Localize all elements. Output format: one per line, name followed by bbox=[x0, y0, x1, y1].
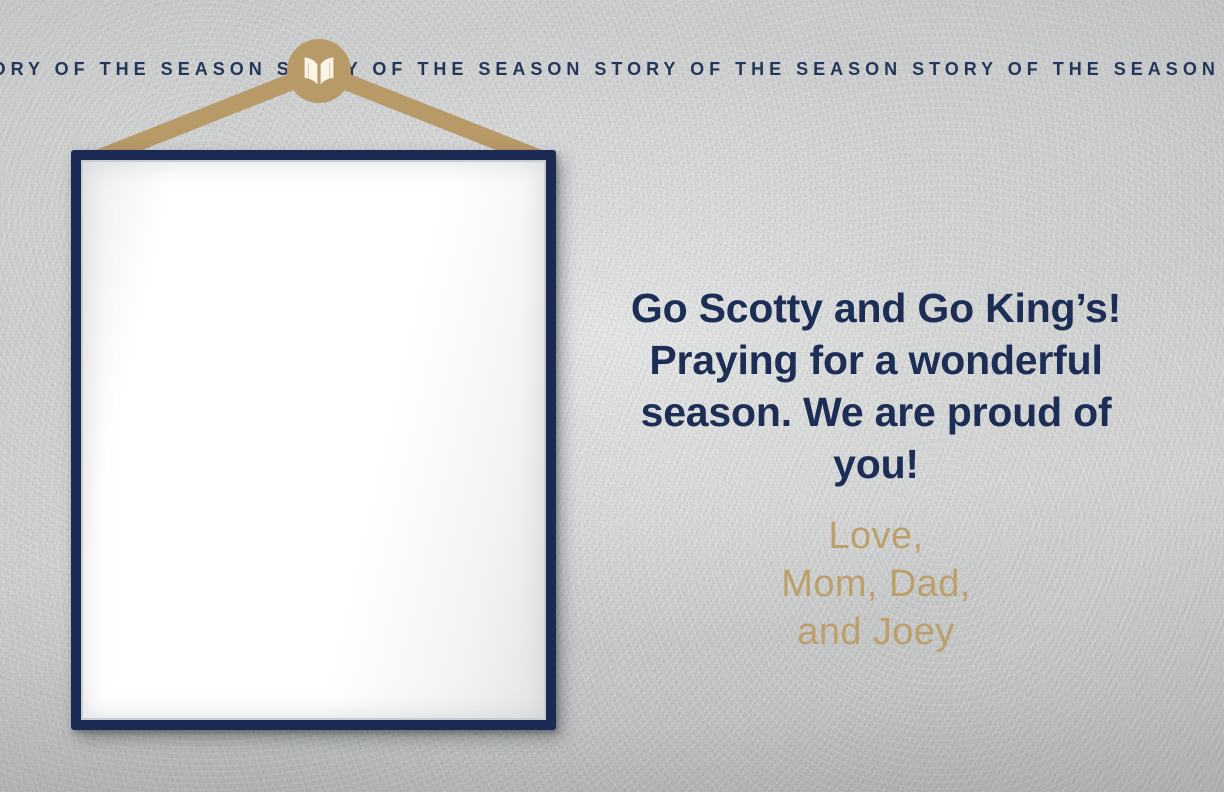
message-block: Go Scotty and Go King’s! Praying for a w… bbox=[608, 282, 1144, 490]
signature-line-1: Love, bbox=[608, 512, 1144, 560]
photo-frame-mat bbox=[81, 160, 546, 720]
signature-line-2: Mom, Dad, bbox=[608, 560, 1144, 608]
photo-frame[interactable] bbox=[71, 150, 556, 730]
open-book-icon bbox=[300, 54, 338, 88]
logo-badge bbox=[287, 39, 351, 103]
tribute-card: TORY OF THE SEASON STORY OF THE SEASON S… bbox=[0, 0, 1224, 792]
marquee-banner-text: TORY OF THE SEASON STORY OF THE SEASON S… bbox=[0, 59, 1224, 80]
signature-block: Love, Mom, Dad, and Joey bbox=[608, 512, 1144, 656]
marquee-banner: TORY OF THE SEASON STORY OF THE SEASON S… bbox=[0, 52, 1224, 86]
signature-line-3: and Joey bbox=[608, 608, 1144, 656]
message-headline: Go Scotty and Go King’s! Praying for a w… bbox=[608, 282, 1144, 490]
